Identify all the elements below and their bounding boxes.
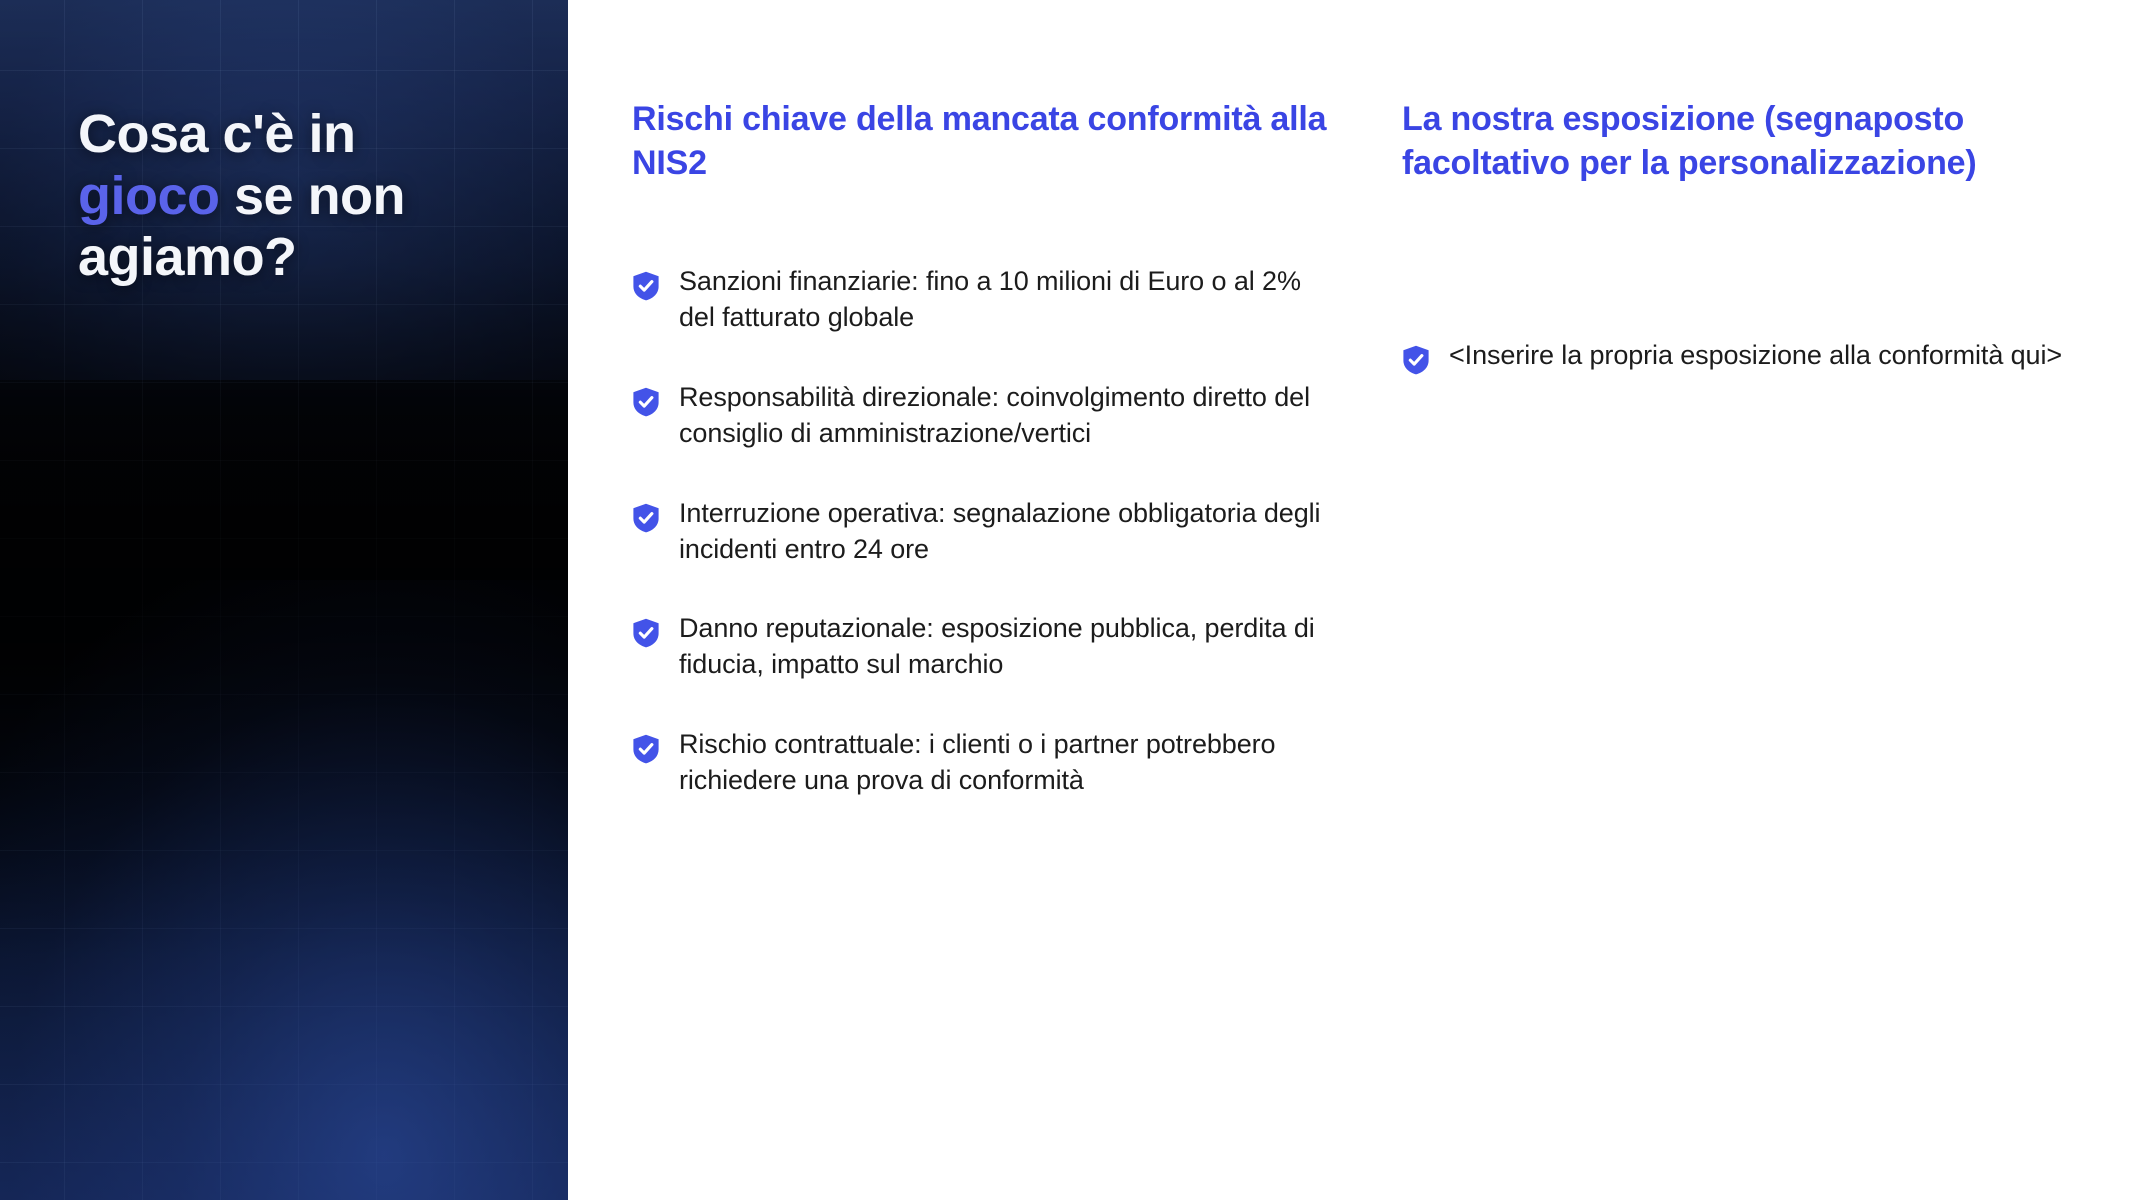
page-title: Cosa c'è in gioco se non agiamo? bbox=[78, 104, 498, 289]
list-item: Sanzioni finanziarie: fino a 10 milioni … bbox=[632, 264, 1332, 336]
list-item-text: Rischio contrattuale: i clienti o i part… bbox=[679, 727, 1325, 799]
list-item: Interruzione operativa: segnalazione obb… bbox=[632, 496, 1332, 568]
list-item: Danno reputazionale: esposizione pubblic… bbox=[632, 611, 1332, 683]
title-line-2-rest: se non bbox=[220, 166, 406, 226]
title-line-1: Cosa c'è in bbox=[78, 104, 355, 164]
list-item-text: Danno reputazionale: esposizione pubblic… bbox=[679, 611, 1325, 683]
list-item-text: Responsabilità direzionale: coinvolgimen… bbox=[679, 380, 1325, 452]
list-item-text: Interruzione operativa: segnalazione obb… bbox=[679, 496, 1325, 568]
list-item-text: <Inserire la propria esposizione alla co… bbox=[1449, 338, 2062, 374]
shield-check-icon bbox=[632, 503, 660, 533]
list-item: <Inserire la propria esposizione alla co… bbox=[1402, 338, 2102, 375]
shield-check-icon bbox=[632, 618, 660, 648]
list-item-text: Sanzioni finanziarie: fino a 10 milioni … bbox=[679, 264, 1325, 336]
column-risks-bullet-list: Sanzioni finanziarie: fino a 10 milioni … bbox=[632, 264, 1332, 799]
list-item: Rischio contrattuale: i clienti o i part… bbox=[632, 727, 1332, 799]
title-highlight-word: gioco bbox=[78, 166, 220, 226]
column-risks-heading: Rischi chiave della mancata conformità a… bbox=[632, 98, 1332, 185]
left-title-panel: Cosa c'è in gioco se non agiamo? bbox=[0, 0, 568, 1200]
shield-check-icon bbox=[632, 734, 660, 764]
column-exposure-bullet-list: <Inserire la propria esposizione alla co… bbox=[1402, 338, 2102, 375]
column-exposure-heading: La nostra esposizione (segnaposto facolt… bbox=[1402, 98, 2102, 185]
shield-check-icon bbox=[632, 271, 660, 301]
title-line-3: agiamo? bbox=[78, 227, 297, 287]
slide: Cosa c'è in gioco se non agiamo? Rischi … bbox=[0, 0, 2133, 1200]
list-item: Responsabilità direzionale: coinvolgimen… bbox=[632, 380, 1332, 452]
shield-check-icon bbox=[632, 387, 660, 417]
shield-check-icon bbox=[1402, 345, 1430, 375]
